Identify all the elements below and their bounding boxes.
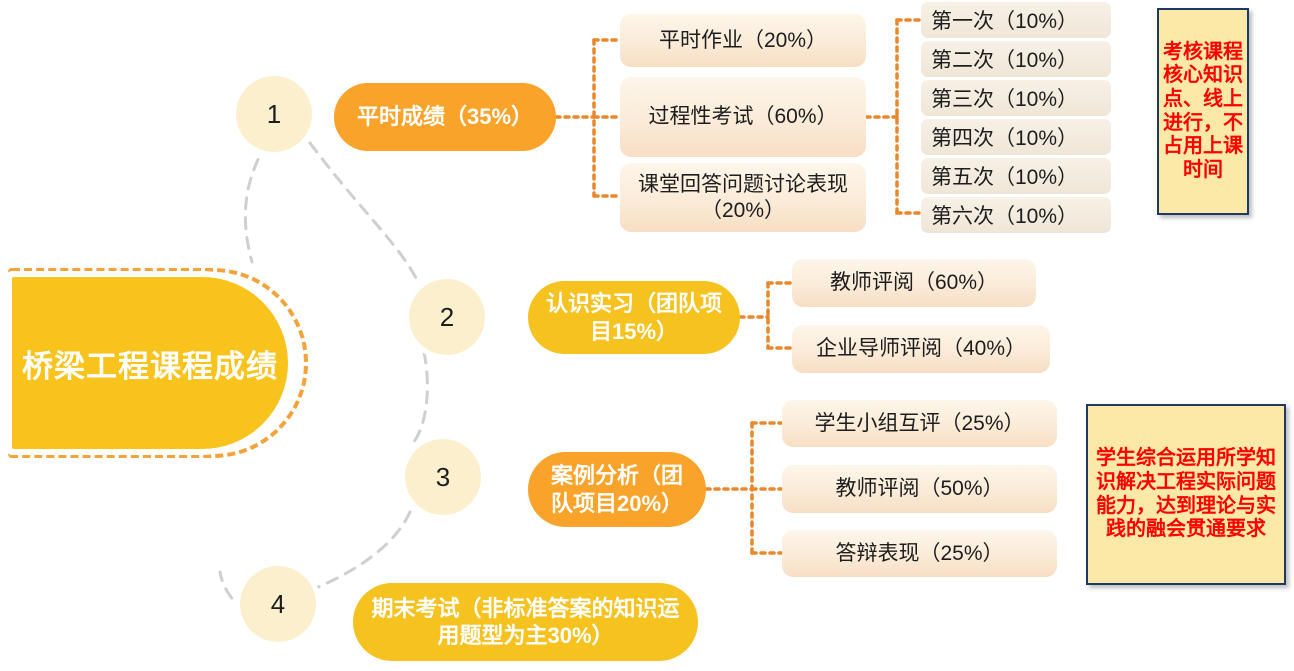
branch-number-2-label: 2 [440, 302, 454, 333]
subtopic-1-2-label: 过程性考试（60%） [648, 104, 837, 130]
callout-note-2: 学生综合运用所学知识解决工程实际问题能力，达到理论与实践的融会贯通要求 [1086, 404, 1286, 585]
leaf-exam-1[interactable]: 第一次（10%） [921, 2, 1111, 38]
root-label: 桥梁工程课程成绩 [22, 341, 278, 386]
branch-title-4[interactable]: 期末考试（非标准答案的知识运用题型为主30%） [353, 583, 698, 661]
subtopic-3-2[interactable]: 教师评阅（50%） [782, 465, 1057, 513]
subtopic-1-1-label: 平时作业（20%） [659, 28, 827, 54]
subtopic-2-2-label: 企业导师评阅（40%） [816, 336, 1026, 362]
mindmap-canvas: 桥梁工程课程成绩 1 平时成绩（35%） 平时作业（20%） 过程性考试（60%… [0, 0, 1294, 671]
spine-arc-bottom [300, 512, 410, 594]
subtopic-2-1-label: 教师评阅（60%） [830, 270, 998, 296]
spine-arc-lower [412, 352, 427, 444]
branch-number-4-label: 4 [271, 589, 285, 620]
branch-title-4-label: 期末考试（非标准答案的知识运用题型为主30%） [367, 595, 684, 650]
leaf-exam-3-label: 第三次（10%） [931, 83, 1078, 113]
branch-number-3[interactable]: 3 [405, 439, 481, 515]
branch-title-2-label: 认识实习（团队项目15%） [542, 290, 726, 345]
leaf-exam-2[interactable]: 第二次（10%） [921, 41, 1111, 77]
leaf-exam-6-label: 第六次（10%） [931, 200, 1078, 230]
callout-note-1: 考核课程核心知识点、线上进行，不占用上课时间 [1157, 8, 1249, 215]
branch-title-1-label: 平时成绩（35%） [357, 103, 533, 131]
branch-title-2[interactable]: 认识实习（团队项目15%） [528, 281, 740, 354]
branch-number-4[interactable]: 4 [240, 566, 316, 642]
leaf-exam-4-label: 第四次（10%） [931, 122, 1078, 152]
subtopic-1-2[interactable]: 过程性考试（60%） [620, 77, 866, 157]
branch-number-1[interactable]: 1 [236, 76, 312, 152]
callout-note-1-text: 考核课程核心知识点、线上进行，不占用上课时间 [1161, 41, 1245, 183]
branch-number-2[interactable]: 2 [409, 279, 485, 355]
leaf-exam-3[interactable]: 第三次（10%） [921, 80, 1111, 116]
branch-number-3-label: 3 [436, 462, 450, 493]
branch-title-3[interactable]: 案例分析（团队项目20%） [528, 452, 706, 527]
callout-note-2-text: 学生综合运用所学知识解决工程实际问题能力，达到理论与实践的融会贯通要求 [1090, 447, 1282, 541]
subtopic-1-1[interactable]: 平时作业（20%） [620, 14, 866, 67]
leaf-exam-4[interactable]: 第四次（10%） [921, 119, 1111, 155]
branch-title-3-label: 案例分析（团队项目20%） [542, 462, 692, 517]
subtopic-1-3-label: 课堂回答问题讨论表现（20%） [630, 172, 856, 223]
subtopic-3-1-label: 学生小组互评（25%） [814, 411, 1024, 437]
branch-title-1[interactable]: 平时成绩（35%） [334, 83, 556, 151]
root-node[interactable]: 桥梁工程课程成绩 [8, 268, 308, 458]
subtopic-3-3[interactable]: 答辩表现（25%） [782, 530, 1057, 577]
subtopic-2-1[interactable]: 教师评阅（60%） [792, 259, 1036, 307]
leaf-exam-6[interactable]: 第六次（10%） [921, 197, 1111, 233]
branch-number-1-label: 1 [267, 99, 281, 130]
leaf-exam-5-label: 第五次（10%） [931, 161, 1078, 191]
subtopic-1-3[interactable]: 课堂回答问题讨论表现（20%） [620, 163, 866, 232]
subtopic-3-3-label: 答辩表现（25%） [835, 541, 1003, 567]
spine-arc-middle [310, 143, 418, 282]
subtopic-3-1[interactable]: 学生小组互评（25%） [782, 400, 1057, 447]
leaf-exam-5[interactable]: 第五次（10%） [921, 158, 1111, 194]
leaf-exam-1-label: 第一次（10%） [931, 5, 1078, 35]
subtopic-3-2-label: 教师评阅（50%） [835, 476, 1003, 502]
subtopic-2-2[interactable]: 企业导师评阅（40%） [792, 325, 1050, 373]
leaf-exam-2-label: 第二次（10%） [931, 44, 1078, 74]
root-fill: 桥梁工程课程成绩 [12, 277, 288, 449]
